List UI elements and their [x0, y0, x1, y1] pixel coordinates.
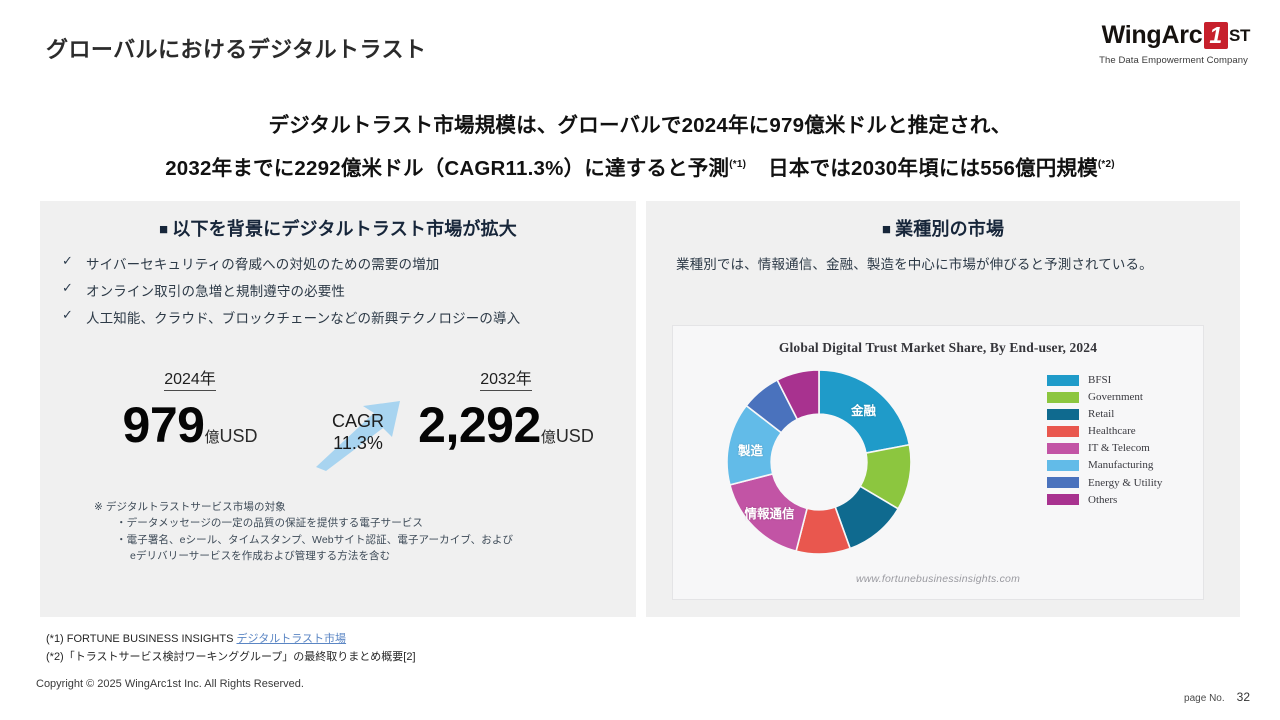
square-bullet-icon: ■	[882, 221, 891, 238]
lead-line-2-part-a: 2032年までに2292億米ドル（CAGR11.3%）に達すると予測	[165, 157, 729, 180]
check-icon: ✓	[62, 307, 86, 323]
check-icon: ✓	[62, 280, 86, 296]
market-size-figures: 2024年 979億USD CAGR 11.3% 2032年 2,292億USD	[40, 365, 636, 480]
list-item-label: サイバーセキュリティの脅威への対処のための需要の増加	[86, 253, 439, 273]
legend-item[interactable]: Energy & Utility	[1047, 477, 1193, 489]
legend-item[interactable]: Healthcare	[1047, 425, 1193, 437]
market-share-chart-card: Global Digital Trust Market Share, By En…	[672, 325, 1204, 600]
lead-line-1: デジタルトラスト市場規模は、グローバルで2024年に979億米ドルと推定され、	[0, 108, 1280, 138]
legend-item[interactable]: Others	[1047, 494, 1193, 506]
donut-slice-label: 製造	[738, 440, 763, 459]
left-panel-heading-text: 以下を背景にデジタルトラスト市場が拡大	[172, 219, 517, 239]
legend-label: Energy & Utility	[1088, 477, 1162, 489]
slide: グローバルにおけるデジタルトラスト WingArc1ST The Data Em…	[0, 0, 1280, 720]
page-number: page No.32	[1184, 690, 1250, 704]
figure-year-label: 2024年	[164, 365, 216, 391]
figure-number: 2,292	[418, 397, 541, 453]
legend-item[interactable]: IT & Telecom	[1047, 442, 1193, 454]
footnote-1-link[interactable]: デジタルトラスト市場	[237, 633, 347, 645]
list-item: ✓ 人工知能、クラウド、ブロックチェーンなどの新興テクノロジーの導入	[62, 307, 636, 327]
legend-swatch	[1047, 443, 1079, 454]
driver-list: ✓ サイバーセキュリティの脅威への対処のための需要の増加 ✓ オンライン取引の急…	[62, 253, 636, 327]
legend-swatch	[1047, 494, 1079, 505]
figure-2024: 2024年 979億USD	[102, 365, 278, 450]
list-item-label: オンライン取引の急増と規制遵守の必要性	[86, 280, 345, 300]
logo-suffix: ST	[1229, 27, 1250, 44]
page-number-value: 32	[1237, 690, 1250, 704]
figure-unit: 億USD	[541, 426, 594, 446]
figure-unit: 億USD	[204, 426, 257, 446]
legend-label: BFSI	[1088, 374, 1111, 386]
scope-note: ※ デジタルトラストサービス市場の対象 ・データメッセージの一定の品質の保証を提…	[94, 499, 594, 564]
figure-year-label: 2032年	[480, 365, 532, 391]
scope-note-line: ・データメッセージの一定の品質の保証を提供する電子サービス	[116, 515, 594, 531]
legend-label: Others	[1088, 494, 1117, 506]
legend-item[interactable]: BFSI	[1047, 374, 1193, 386]
scope-note-line: ・電子署名、eシール、タイムスタンプ、Webサイト認証、電子アーカイブ、および	[116, 532, 594, 548]
legend-item[interactable]: Manufacturing	[1047, 459, 1193, 471]
legend-swatch	[1047, 477, 1079, 488]
legend-swatch	[1047, 392, 1079, 403]
legend-swatch	[1047, 375, 1079, 386]
legend-swatch	[1047, 409, 1079, 420]
wingarc-logo: WingArc1ST The Data Empowerment Company	[1040, 22, 1250, 66]
logo-badge-one: 1	[1204, 22, 1228, 49]
legend-label: Government	[1088, 391, 1143, 403]
donut-slice-label: 情報通信	[745, 503, 795, 522]
scope-note-title: ※ デジタルトラストサービス市場の対象	[94, 499, 594, 515]
right-panel-heading-text: 業種別の市場	[895, 219, 1004, 239]
lead-statement: デジタルトラスト市場規模は、グローバルで2024年に979億米ドルと推定され、 …	[0, 108, 1280, 181]
footnote-ref-1: (*1)	[729, 159, 746, 170]
logo-wordmark: WingArc1ST	[1040, 22, 1250, 49]
copyright-text: Copyright © 2025 WingArc1st Inc. All Rig…	[36, 678, 304, 690]
lead-line-2: 2032年までに2292億米ドル（CAGR11.3%）に達すると予測(*1)日本…	[0, 151, 1280, 181]
scope-note-line: eデリバリーサービスを作成および管理する方法を含む	[130, 548, 594, 564]
donut-chart-svg	[699, 362, 939, 562]
logo-tagline: The Data Empowerment Company	[1040, 55, 1250, 66]
lead-line-2-part-b: 日本では2030年頃には556億円規模	[768, 157, 1098, 180]
figure-value: 979億USD	[102, 400, 278, 450]
right-panel-heading: ■業種別の市場	[646, 215, 1240, 241]
chart-title: Global Digital Trust Market Share, By En…	[673, 340, 1203, 356]
footnote-1: (*1) FORTUNE BUSINESS INSIGHTS デジタルトラスト市…	[46, 631, 416, 649]
figure-2032: 2032年 2,292億USD	[390, 365, 622, 450]
legend-swatch	[1047, 426, 1079, 437]
figure-value: 2,292億USD	[390, 400, 622, 450]
legend-label: Manufacturing	[1088, 459, 1153, 471]
legend-item[interactable]: Retail	[1047, 408, 1193, 420]
right-panel-description: 業種別では、情報通信、金融、製造を中心に市場が伸びると予測されている。	[676, 255, 1210, 275]
page-title: グローバルにおけるデジタルトラスト	[46, 32, 426, 64]
footnote-2: (*2)「トラストサービス検討ワーキンググループ」の最終取りまとめ概要[2]	[46, 649, 416, 667]
list-item: ✓ サイバーセキュリティの脅威への対処のための需要の増加	[62, 253, 636, 273]
page-number-label: page No.	[1184, 693, 1225, 704]
chart-watermark: www.fortunebusinessinsights.com	[673, 573, 1203, 585]
source-footnotes: (*1) FORTUNE BUSINESS INSIGHTS デジタルトラスト市…	[46, 631, 416, 666]
list-item: ✓ オンライン取引の急増と規制遵守の必要性	[62, 280, 636, 300]
check-icon: ✓	[62, 253, 86, 269]
donut-chart: 金融製造情報通信	[699, 362, 939, 562]
figure-number: 979	[123, 397, 205, 453]
list-item-label: 人工知能、クラウド、ブロックチェーンなどの新興テクノロジーの導入	[86, 307, 520, 327]
left-panel-heading: ■以下を背景にデジタルトラスト市場が拡大	[40, 215, 636, 241]
chart-legend: BFSIGovernmentRetailHealthcareIT & Telec…	[1047, 374, 1193, 511]
logo-text: WingArc	[1102, 23, 1203, 48]
legend-label: Healthcare	[1088, 425, 1136, 437]
footnote-1-prefix: (*1) FORTUNE BUSINESS INSIGHTS	[46, 633, 237, 645]
footnote-ref-2: (*2)	[1098, 159, 1115, 170]
donut-slice-label: 金融	[851, 400, 876, 419]
legend-item[interactable]: Government	[1047, 391, 1193, 403]
legend-label: IT & Telecom	[1088, 442, 1150, 454]
legend-swatch	[1047, 460, 1079, 471]
legend-label: Retail	[1088, 408, 1114, 420]
square-bullet-icon: ■	[159, 221, 168, 238]
